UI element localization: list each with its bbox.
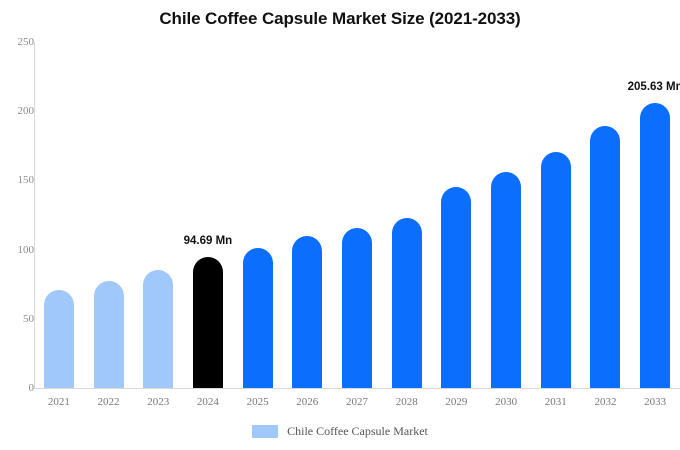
x-axis-tick-label: 2030 <box>481 396 531 408</box>
x-axis-tick-label: 2033 <box>630 396 680 408</box>
y-axis: 050100150200250 <box>0 0 34 450</box>
bar-2026[interactable] <box>292 236 322 388</box>
bar-2022[interactable] <box>94 281 124 388</box>
y-axis-tick-label: 250 <box>2 36 34 48</box>
bar-2033[interactable] <box>640 103 670 388</box>
x-axis-tick-label: 2022 <box>84 396 134 408</box>
bar-2024[interactable] <box>193 257 223 388</box>
bar-2023[interactable] <box>143 270 173 388</box>
legend-swatch-icon <box>252 425 278 438</box>
chart-legend: Chile Coffee Capsule Market <box>0 424 680 439</box>
chart-title: Chile Coffee Capsule Market Size (2021-2… <box>0 9 680 29</box>
x-axis-tick-label: 2023 <box>133 396 183 408</box>
x-axis-line <box>34 388 680 389</box>
bar-2025[interactable] <box>243 248 273 388</box>
legend-item[interactable]: Chile Coffee Capsule Market <box>252 424 428 439</box>
x-axis-tick-label: 2025 <box>233 396 283 408</box>
chart-container: Chile Coffee Capsule Market Size (2021-2… <box>0 0 680 450</box>
plot-area <box>34 42 680 388</box>
x-axis-tick-label: 2024 <box>183 396 233 408</box>
legend-label: Chile Coffee Capsule Market <box>287 424 428 439</box>
y-axis-tick-label: 150 <box>2 174 34 186</box>
y-axis-tick-label: 100 <box>2 244 34 256</box>
bar-2031[interactable] <box>541 152 571 388</box>
x-axis-tick-label: 2021 <box>34 396 84 408</box>
bar-2032[interactable] <box>590 126 620 388</box>
x-axis-tick-label: 2027 <box>332 396 382 408</box>
bar-2029[interactable] <box>441 187 471 388</box>
y-axis-tick-label: 200 <box>2 105 34 117</box>
bar-2028[interactable] <box>392 218 422 388</box>
bar-value-label-2033: 205.63 Mn <box>617 81 680 93</box>
bar-2021[interactable] <box>44 290 74 388</box>
x-axis-tick-label: 2029 <box>432 396 482 408</box>
x-axis-tick-label: 2031 <box>531 396 581 408</box>
x-axis-tick-label: 2026 <box>282 396 332 408</box>
bar-2027[interactable] <box>342 228 372 388</box>
y-axis-tick-label: 50 <box>2 313 34 325</box>
x-axis-tick-label: 2032 <box>581 396 631 408</box>
bar-2030[interactable] <box>491 172 521 388</box>
x-axis-tick-label: 2028 <box>382 396 432 408</box>
y-axis-tick-label: 0 <box>2 382 34 394</box>
bar-value-label-2024: 94.69 Mn <box>170 235 246 247</box>
